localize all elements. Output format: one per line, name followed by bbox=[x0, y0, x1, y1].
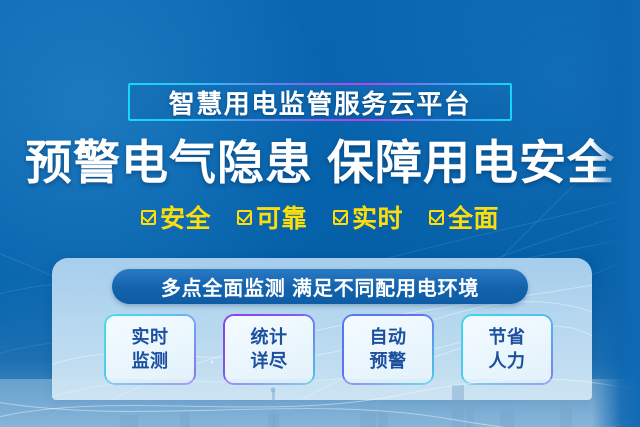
feature-tick-label: 安全 bbox=[160, 199, 211, 235]
feature-card-labor-saving[interactable]: 节省 人力 bbox=[461, 314, 553, 385]
main-headline: 预警电气隐患 保障用电安全 bbox=[0, 136, 640, 190]
feature-card-line2: 监测 bbox=[132, 350, 169, 373]
feature-card-line2: 详尽 bbox=[251, 350, 288, 373]
feature-tick-label: 实时 bbox=[352, 199, 403, 235]
feature-tick-item: 安全 bbox=[141, 199, 211, 235]
feature-card-list: 实时 监测 统计 详尽 自动 预警 节省 人力 bbox=[104, 314, 544, 385]
feature-tick-item: 实时 bbox=[333, 199, 403, 235]
feature-card-line2: 人力 bbox=[489, 350, 526, 373]
subtitle-pill: 多点全面监测 满足不同配用电环境 bbox=[112, 269, 528, 304]
checkbox-checked-icon bbox=[141, 210, 156, 225]
promo-poster: 智慧用电监管服务云平台 预警电气隐患 保障用电安全 安全 可靠 实时 全面 bbox=[0, 0, 640, 427]
feature-card-line2: 预警 bbox=[370, 350, 407, 373]
feature-card-line1: 节省 bbox=[489, 326, 526, 349]
feature-card-body: 统计 详尽 bbox=[225, 316, 313, 383]
feature-tick-list: 安全 可靠 实时 全面 bbox=[0, 199, 640, 235]
platform-title-chip: 智慧用电监管服务云平台 bbox=[128, 83, 512, 121]
feature-tick-label: 全面 bbox=[448, 199, 499, 235]
feature-card-detailed-statistics[interactable]: 统计 详尽 bbox=[223, 314, 315, 385]
feature-tick-label: 可靠 bbox=[256, 199, 307, 235]
platform-title-text: 智慧用电监管服务云平台 bbox=[129, 84, 511, 120]
checkbox-checked-icon bbox=[333, 210, 348, 225]
feature-card-line1: 自动 bbox=[370, 326, 407, 349]
feature-card-body: 节省 人力 bbox=[463, 316, 551, 383]
checkbox-checked-icon bbox=[237, 210, 252, 225]
feature-tick-item: 可靠 bbox=[237, 199, 307, 235]
feature-card-body: 自动 预警 bbox=[344, 316, 432, 383]
feature-card-body: 实时 监测 bbox=[106, 316, 194, 383]
checkbox-checked-icon bbox=[429, 210, 444, 225]
feature-tick-item: 全面 bbox=[429, 199, 499, 235]
feature-card-realtime-monitoring[interactable]: 实时 监测 bbox=[104, 314, 196, 385]
feature-card-line1: 实时 bbox=[132, 326, 169, 349]
subtitle-pill-text: 多点全面监测 满足不同配用电环境 bbox=[161, 272, 479, 301]
feature-card-automatic-alarm[interactable]: 自动 预警 bbox=[342, 314, 434, 385]
feature-card-line1: 统计 bbox=[251, 326, 288, 349]
